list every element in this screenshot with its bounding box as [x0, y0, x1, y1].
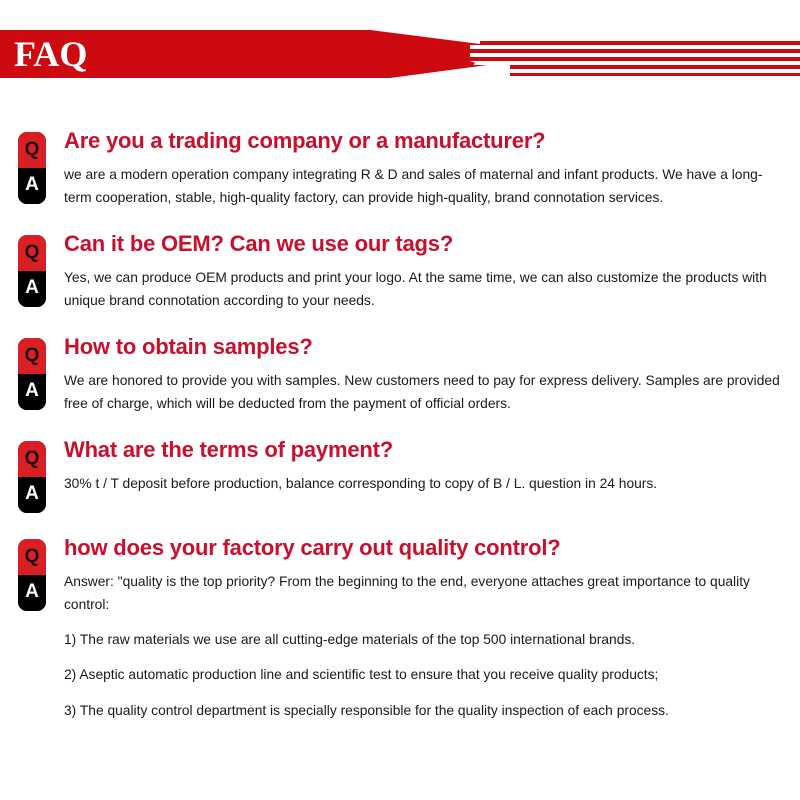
question-letter-badge: Q	[18, 539, 46, 575]
answer-letter-badge: A	[18, 168, 46, 204]
faq-question: Can it be OEM? Can we use our tags?	[64, 231, 782, 256]
question-letter-badge: Q	[18, 132, 46, 168]
answer-letter-badge: A	[18, 575, 46, 611]
faq-body: Are you a trading company or a manufactu…	[64, 128, 782, 209]
question-letter-badge: Q	[18, 235, 46, 271]
answer-letter-badge: A	[18, 477, 46, 513]
question-letter-badge: Q	[18, 338, 46, 374]
faq-question: Are you a trading company or a manufactu…	[64, 128, 782, 153]
faq-answer: We are honored to provide you with sampl…	[64, 370, 782, 415]
faq-question: How to obtain samples?	[64, 334, 782, 359]
faq-body: Can it be OEM? Can we use our tags? Yes,…	[64, 231, 782, 312]
faq-answer: Yes, we can produce OEM products and pri…	[64, 267, 782, 312]
qa-badge: Q A	[18, 132, 46, 204]
faq-body: how does your factory carry out quality …	[64, 535, 782, 722]
faq-item: Q A Can it be OEM? Can we use our tags? …	[18, 231, 782, 312]
faq-item: Q A How to obtain samples? We are honore…	[18, 334, 782, 415]
faq-body: How to obtain samples? We are honored to…	[64, 334, 782, 415]
page-title: FAQ	[14, 30, 87, 78]
qa-badge: Q A	[18, 235, 46, 307]
banner-stripe-3	[437, 57, 800, 61]
question-letter-badge: Q	[18, 441, 46, 477]
banner-stripe-5	[463, 73, 800, 76]
faq-body: What are the terms of payment? 30% t / T…	[64, 437, 782, 496]
faq-item: Q A What are the terms of payment? 30% t…	[18, 437, 782, 513]
faq-header-banner: FAQ	[0, 0, 800, 100]
faq-answer: we are a modern operation company integr…	[64, 164, 782, 209]
faq-item: Q A how does your factory carry out qual…	[18, 535, 782, 722]
faq-answer: 30% t / T deposit before production, bal…	[64, 473, 782, 495]
faq-answer-point-2: 2) Aseptic automatic production line and…	[64, 664, 782, 686]
qa-badge: Q A	[18, 441, 46, 513]
answer-letter-badge: A	[18, 374, 46, 410]
qa-badge: Q A	[18, 539, 46, 611]
faq-answer-point-1: 1) The raw materials we use are all cutt…	[64, 629, 782, 651]
qa-badge: Q A	[18, 338, 46, 410]
answer-letter-badge: A	[18, 271, 46, 307]
faq-question: how does your factory carry out quality …	[64, 535, 782, 560]
faq-question: What are the terms of payment?	[64, 437, 782, 462]
faq-list: Q A Are you a trading company or a manuf…	[0, 100, 800, 722]
banner-stripe-2	[425, 49, 800, 53]
faq-answer: Answer: "quality is the top priority? Fr…	[64, 571, 782, 616]
faq-item: Q A Are you a trading company or a manuf…	[18, 128, 782, 209]
faq-answer-point-3: 3) The quality control department is spe…	[64, 700, 782, 722]
